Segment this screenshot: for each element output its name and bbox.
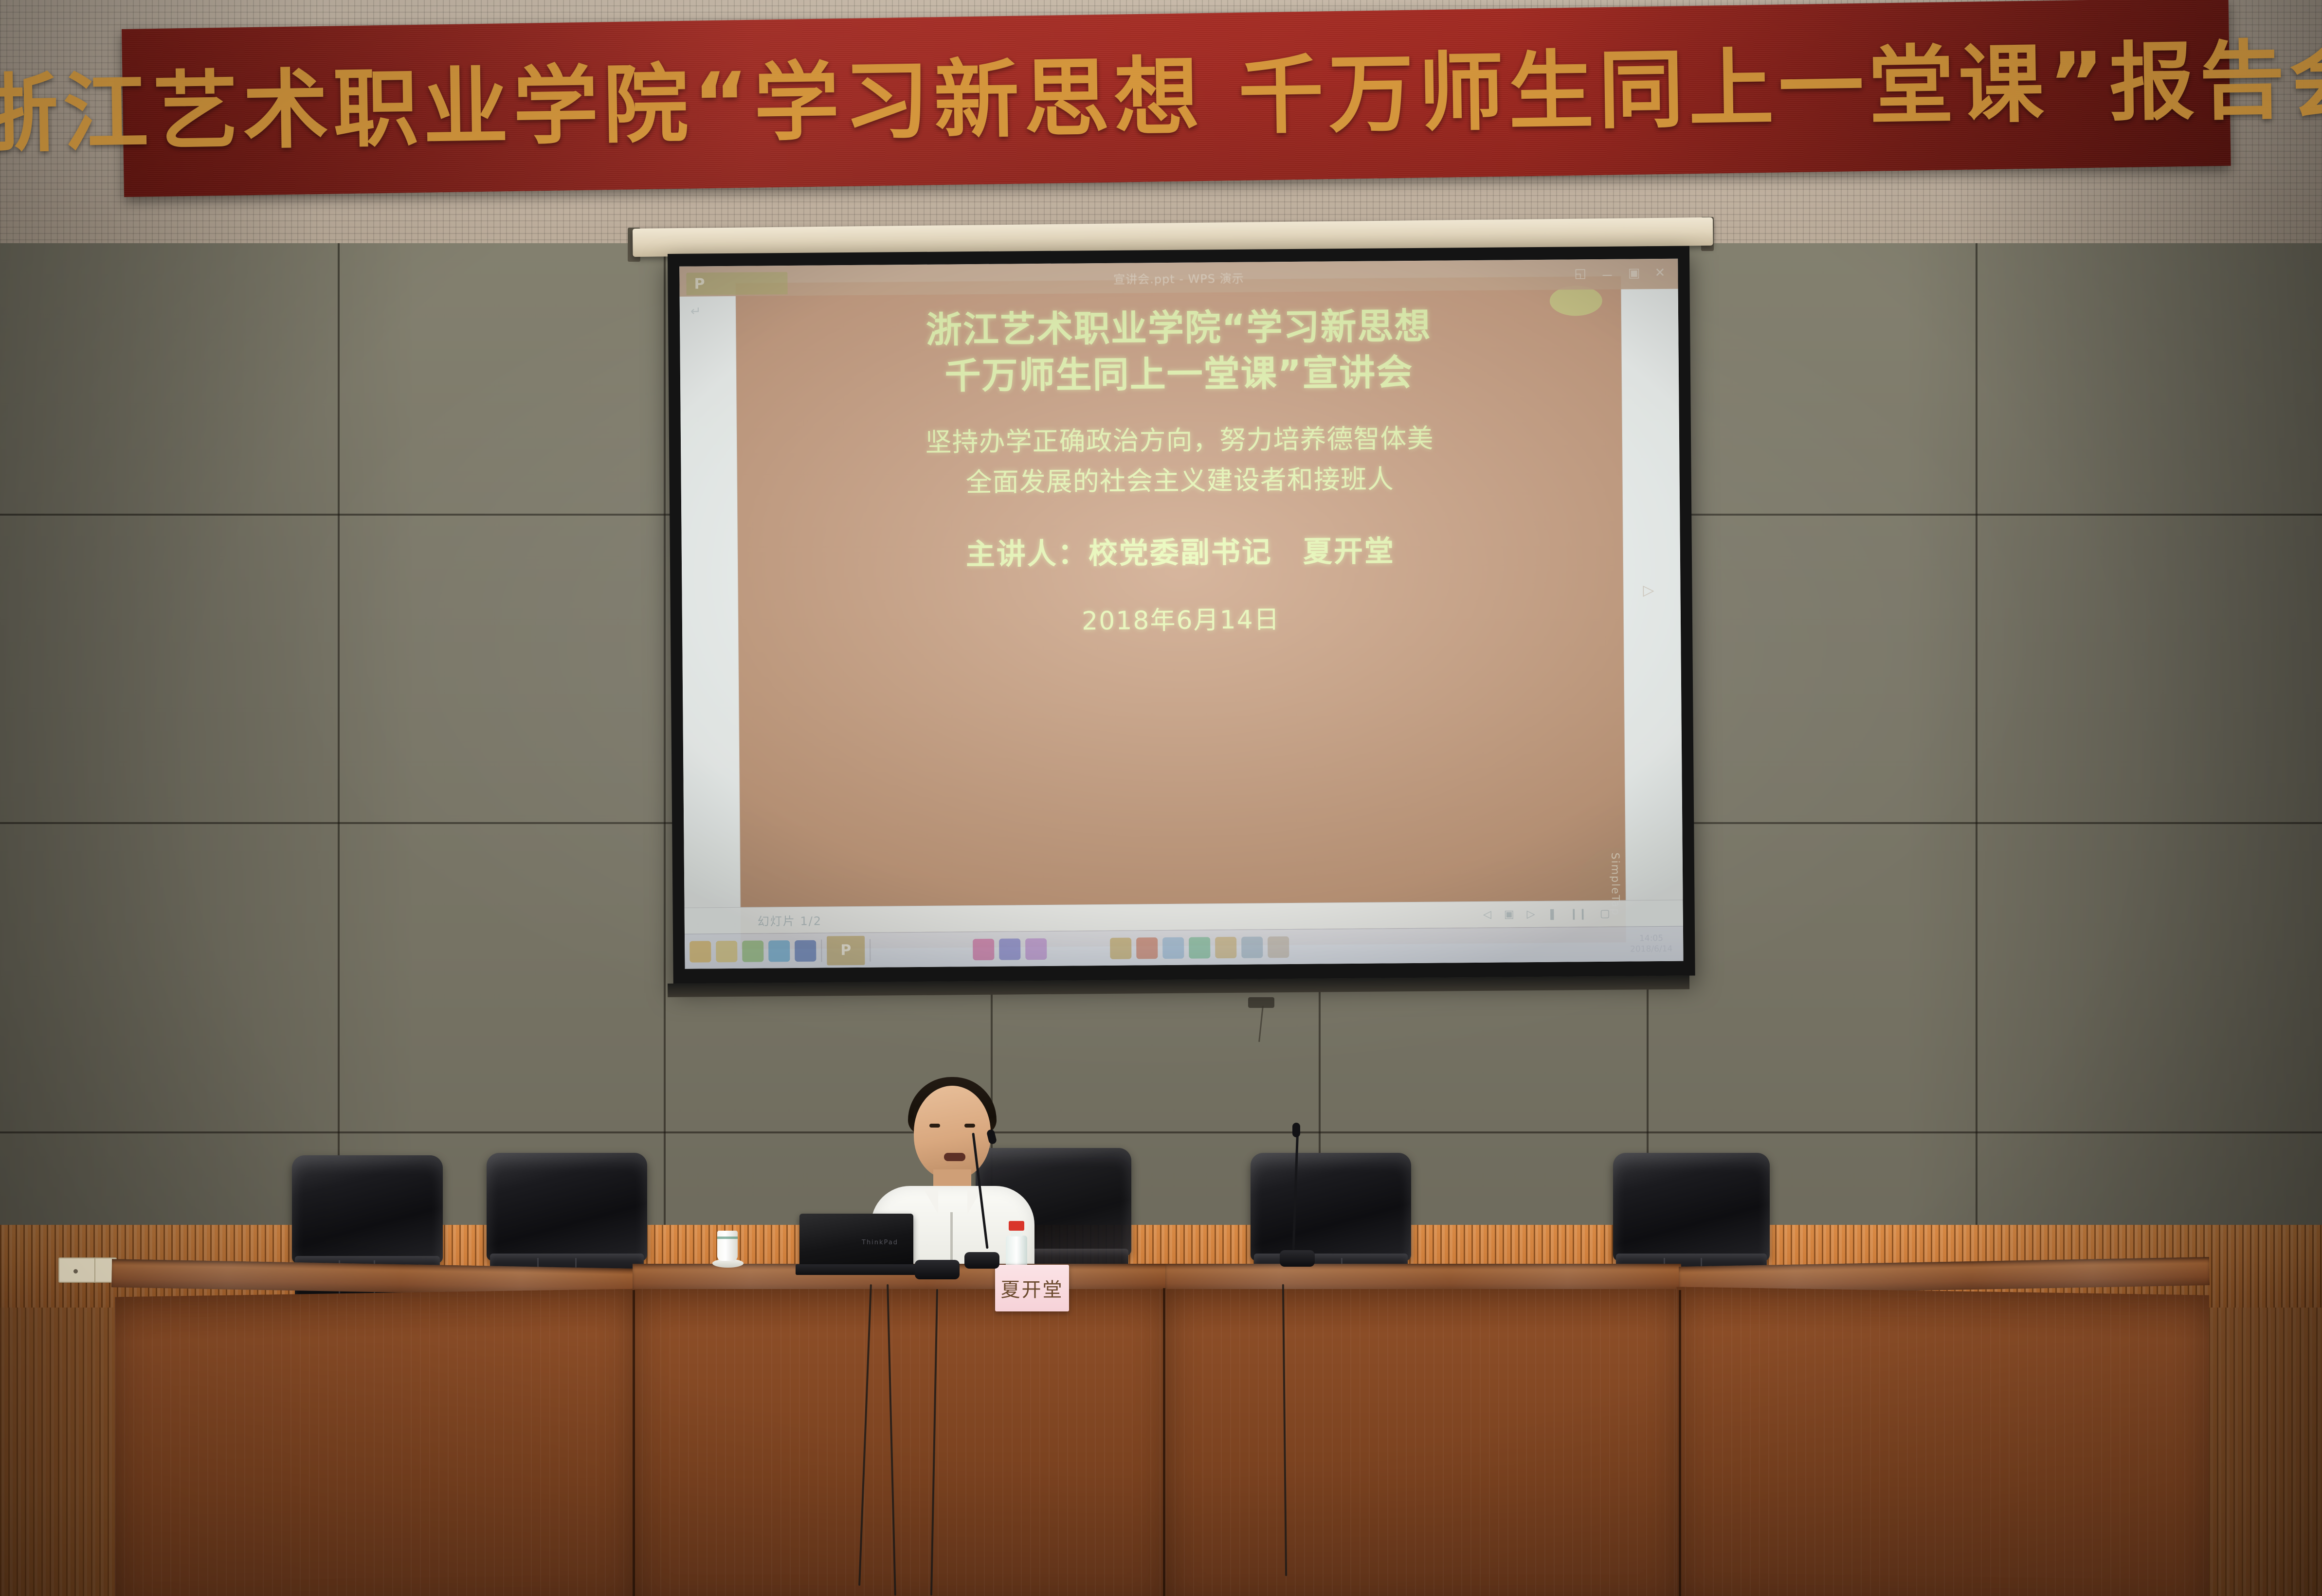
- taskbar-clock[interactable]: 14:05 2018/6/14: [1630, 933, 1673, 954]
- c-icon[interactable]: [1136, 937, 1158, 959]
- slide-subtitle-line-1: 坚持办学正确政治方向，努力培养德智体美: [737, 419, 1622, 463]
- slide-title-line-1: 浙江艺术职业学院“学习新思想: [736, 302, 1621, 355]
- restore-icon[interactable]: ◱: [1574, 266, 1586, 284]
- slideshow-icon[interactable]: ❚: [1548, 908, 1557, 920]
- browser-icon[interactable]: [689, 941, 711, 962]
- shield-icon[interactable]: [1189, 937, 1210, 958]
- slide-date-line: 2018年6月14日: [739, 596, 1624, 640]
- net-icon[interactable]: [1215, 936, 1236, 958]
- banner-text: 浙江艺术职业学院“学习新思想 千万师生同上一堂课”报告会: [0, 37, 2322, 158]
- left-eye: [929, 1124, 940, 1128]
- minimize-icon[interactable]: －: [1601, 266, 1614, 284]
- window-controls[interactable]: ◱ － ▣ ✕: [1574, 266, 1665, 284]
- folder-icon[interactable]: [716, 940, 737, 962]
- s-icon[interactable]: [973, 938, 994, 960]
- slide-subtitle-line-2: 全面发展的社会主义建设者和接班人: [737, 460, 1622, 503]
- windows-taskbar[interactable]: P 14:05 2018/6/14: [685, 926, 1684, 969]
- slide-speaker-line: 主讲人：校党委副书记 夏开堂: [738, 526, 1623, 575]
- next-slide-arrow-icon[interactable]: ▷: [1643, 582, 1654, 599]
- wps-taskbar-button[interactable]: P: [827, 935, 865, 965]
- clock-time: 14:05: [1630, 933, 1672, 944]
- tea-cup: [715, 1231, 740, 1266]
- cloud-icon[interactable]: [1025, 938, 1047, 959]
- chat-icon[interactable]: [1162, 937, 1184, 958]
- laptop-brand-mark: ThinkPad: [862, 1239, 898, 1246]
- wps-tray-icon[interactable]: [1110, 937, 1131, 959]
- normal-view-icon[interactable]: ▣: [1504, 908, 1514, 920]
- slide-counter: 幻灯片 1/2: [758, 912, 822, 929]
- event-banner: 浙江艺术职业学院“学习新思想 千万师生同上一堂课”报告会: [122, 0, 2231, 197]
- maximize-icon[interactable]: ▣: [1628, 266, 1640, 284]
- close-icon[interactable]: ✕: [1654, 266, 1665, 284]
- laptop[interactable]: ThinkPad: [796, 1214, 917, 1277]
- ir-receiver-icon: [1248, 997, 1274, 1008]
- usb-icon[interactable]: [1268, 936, 1289, 958]
- edge-icon[interactable]: [768, 940, 790, 962]
- lecture-hall-photo: 浙江艺术职业学院“学习新思想 千万师生同上一堂课”报告会 P 宣讲会.ppt -…: [0, 0, 2322, 1596]
- taskbar-divider: [821, 939, 822, 962]
- projector-screen: P 宣讲会.ppt - WPS 演示 ◱ － ▣ ✕ ↵ 浙江艺术职业学院“学习…: [668, 246, 1695, 984]
- taskbar-divider-2: [870, 939, 871, 961]
- conference-table: [0, 1245, 2322, 1596]
- microphone-desk: [915, 1245, 959, 1289]
- slide-canvas[interactable]: 浙江艺术职业学院“学习新思想 千万师生同上一堂课”宣讲会 坚持办学正确政治方向，…: [736, 277, 1626, 949]
- name-plate-text: 夏开堂: [1001, 1274, 1064, 1302]
- sorter-view-icon[interactable]: ▢: [1600, 908, 1610, 920]
- status-tools: ◁ ▣ ▷ ❚ ❙❙ ▢: [1483, 908, 1610, 921]
- window-title: 宣讲会.ppt - WPS 演示: [679, 265, 1678, 290]
- slide-title-line-2: 千万师生同上一堂课”宣讲会: [737, 348, 1622, 401]
- clock-date: 2018/6/14: [1630, 944, 1672, 954]
- microphone-center: [962, 1132, 1001, 1278]
- ime-icon[interactable]: [999, 938, 1020, 960]
- outline-marker-icon: ↵: [690, 304, 701, 319]
- next-slide-icon[interactable]: ▷: [1527, 908, 1535, 920]
- right-eye: [964, 1124, 975, 1128]
- word-icon[interactable]: [795, 940, 816, 961]
- reading-view-icon[interactable]: ❙❙: [1569, 908, 1587, 920]
- collar-left: [924, 1189, 938, 1214]
- microphone-right: [1280, 1129, 1314, 1274]
- media-icon[interactable]: [742, 940, 763, 962]
- vol-icon[interactable]: [1241, 936, 1263, 958]
- prev-slide-icon[interactable]: ◁: [1483, 909, 1491, 921]
- name-plate: 夏开堂: [995, 1265, 1069, 1311]
